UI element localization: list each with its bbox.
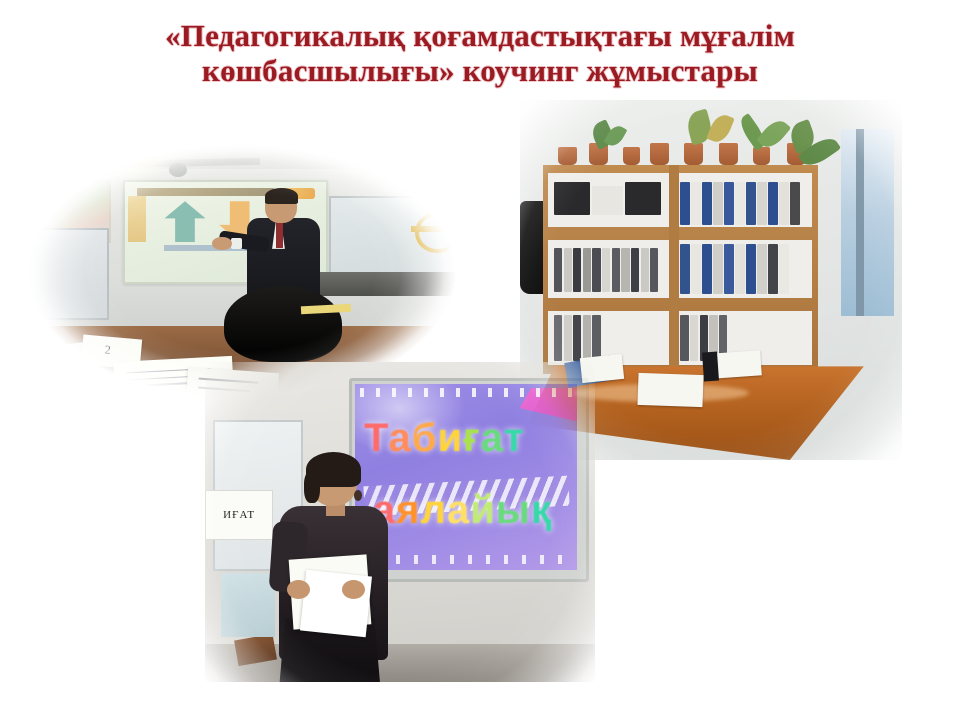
slide-bottom-dots [360,555,573,564]
ceiling-lamp-icon [105,141,160,165]
wall-sign-label: ИҒАТ [223,509,255,521]
presenter-cuff [231,238,243,249]
presenter-hand [212,237,231,251]
open-book [638,372,704,407]
title-line-1: «Педагогикалық қоғамдастықтағы мұғалім [60,18,900,53]
potted-plant [684,143,703,165]
presenter-hair [265,188,298,204]
slide-heading-1: Табиғат [364,418,577,458]
page-title: «Педагогикалық қоғамдастықтағы мұғалім к… [60,18,900,89]
wall-sign: ИҒАТ [205,490,273,540]
school-logo-bar [411,226,447,232]
bookcase [543,165,818,374]
ceiling-sensor-icon [169,163,187,177]
presenter-tie [276,220,283,247]
presenter-right-hand [342,580,365,599]
slide-top-dots [360,388,573,397]
presenter-hair-side [304,471,320,503]
photo3-scene: ИҒАТ Табиғат аялайық [205,362,595,682]
handheld-paper [300,570,372,637]
potted-plant [623,147,640,165]
book-cover [702,352,719,382]
slide-heading-2: аялайық [373,490,578,530]
slide-side-bar [128,196,146,242]
foreground-chair [224,286,343,362]
title-line-2: көшбасшылығы» коучинг жұмыстары [60,53,900,88]
window [841,129,894,316]
potted-plant [558,147,577,165]
projection-screen: Табиғат аялайық [355,384,577,570]
blue-wall-panel [221,573,276,637]
paper-number-label: 2 [104,343,120,362]
slide-title-bar [137,188,274,196]
slide-canvas: «Педагогикалық қоғамдастықтағы мұғалім к… [0,0,960,720]
window-frame [856,129,864,316]
teacher-desk [297,272,470,296]
left-whiteboard [14,228,109,319]
presenter-left-hand [287,580,310,599]
school-logo-icon [415,212,459,253]
potted-plant [719,143,738,165]
potted-plant [650,143,669,165]
teacher-presenting-nature-slide-photo: ИҒАТ Табиғат аялайық [205,362,595,682]
